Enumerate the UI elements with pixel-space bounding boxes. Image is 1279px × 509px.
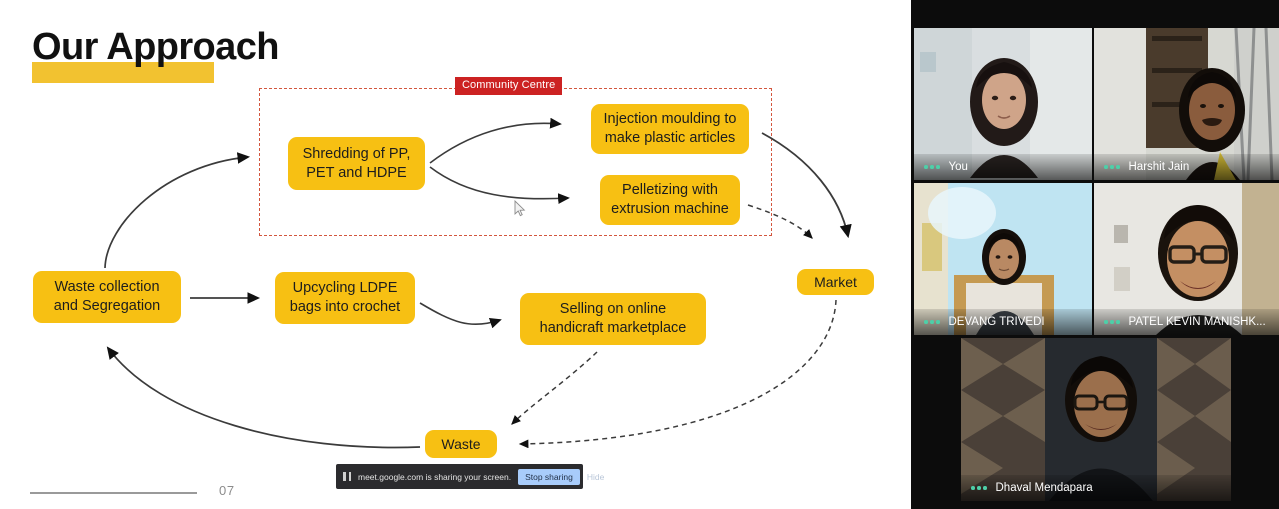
more-options-icon[interactable] (1104, 320, 1120, 324)
participant-name: Harshit Jain (1129, 161, 1190, 173)
node-upcycling: Upcycling LDPE bags into crochet (275, 272, 415, 324)
participant-tile-harshit-jain[interactable]: Harshit Jain (1094, 28, 1279, 180)
participant-tile-dhaval-mendapara[interactable]: Dhaval Mendapara (961, 338, 1231, 501)
pause-icon (343, 472, 351, 481)
community-centre-label: Community Centre (455, 77, 562, 95)
participant-panel: You (911, 0, 1279, 509)
screen-sharing-bar: meet.google.com is sharing your screen. … (336, 464, 583, 489)
participant-namebar: You (914, 154, 1092, 180)
participant-name: Dhaval Mendapara (996, 482, 1093, 494)
participant-tile-devang-trivedi[interactable]: DEVANG TRIVEDI (914, 183, 1092, 335)
participant-name: PATEL KEVIN MANISHK... (1129, 316, 1266, 328)
participant-namebar: Dhaval Mendapara (961, 475, 1231, 501)
page-title: Our Approach (32, 28, 279, 66)
node-pelletizing: Pelletizing with extrusion machine (600, 175, 740, 225)
hide-button[interactable]: Hide (587, 472, 606, 482)
node-injection-moulding: Injection moulding to make plastic artic… (591, 104, 749, 154)
footer-divider (30, 492, 197, 494)
participant-tile-patel-kevin[interactable]: PATEL KEVIN MANISHK... (1094, 183, 1279, 335)
presentation-slide: Our Approach Community Centre (0, 0, 911, 509)
slide-title: Our Approach (32, 28, 279, 66)
more-options-icon[interactable] (971, 486, 987, 490)
stop-sharing-button[interactable]: Stop sharing (518, 469, 580, 485)
participant-tile-you[interactable]: You (914, 28, 1092, 180)
participant-name: You (949, 161, 968, 173)
screen-share-view: Our Approach Community Centre (0, 0, 1279, 509)
node-selling-online: Selling on online handicraft marketplace (520, 293, 706, 345)
participant-namebar: PATEL KEVIN MANISHK... (1094, 309, 1279, 335)
sharing-message: meet.google.com is sharing your screen. (358, 472, 511, 482)
participant-namebar: Harshit Jain (1094, 154, 1279, 180)
more-options-icon[interactable] (924, 165, 940, 169)
more-options-icon[interactable] (1104, 165, 1120, 169)
node-waste-collection: Waste collection and Segregation (33, 271, 181, 323)
participant-name: DEVANG TRIVEDI (949, 316, 1045, 328)
more-options-icon[interactable] (924, 320, 940, 324)
page-number: 07 (219, 483, 235, 498)
node-market: Market (797, 269, 874, 295)
participant-namebar: DEVANG TRIVEDI (914, 309, 1092, 335)
mouse-cursor-icon (514, 200, 526, 218)
node-shredding: Shredding of PP, PET and HDPE (288, 137, 425, 190)
node-waste: Waste (425, 430, 497, 458)
